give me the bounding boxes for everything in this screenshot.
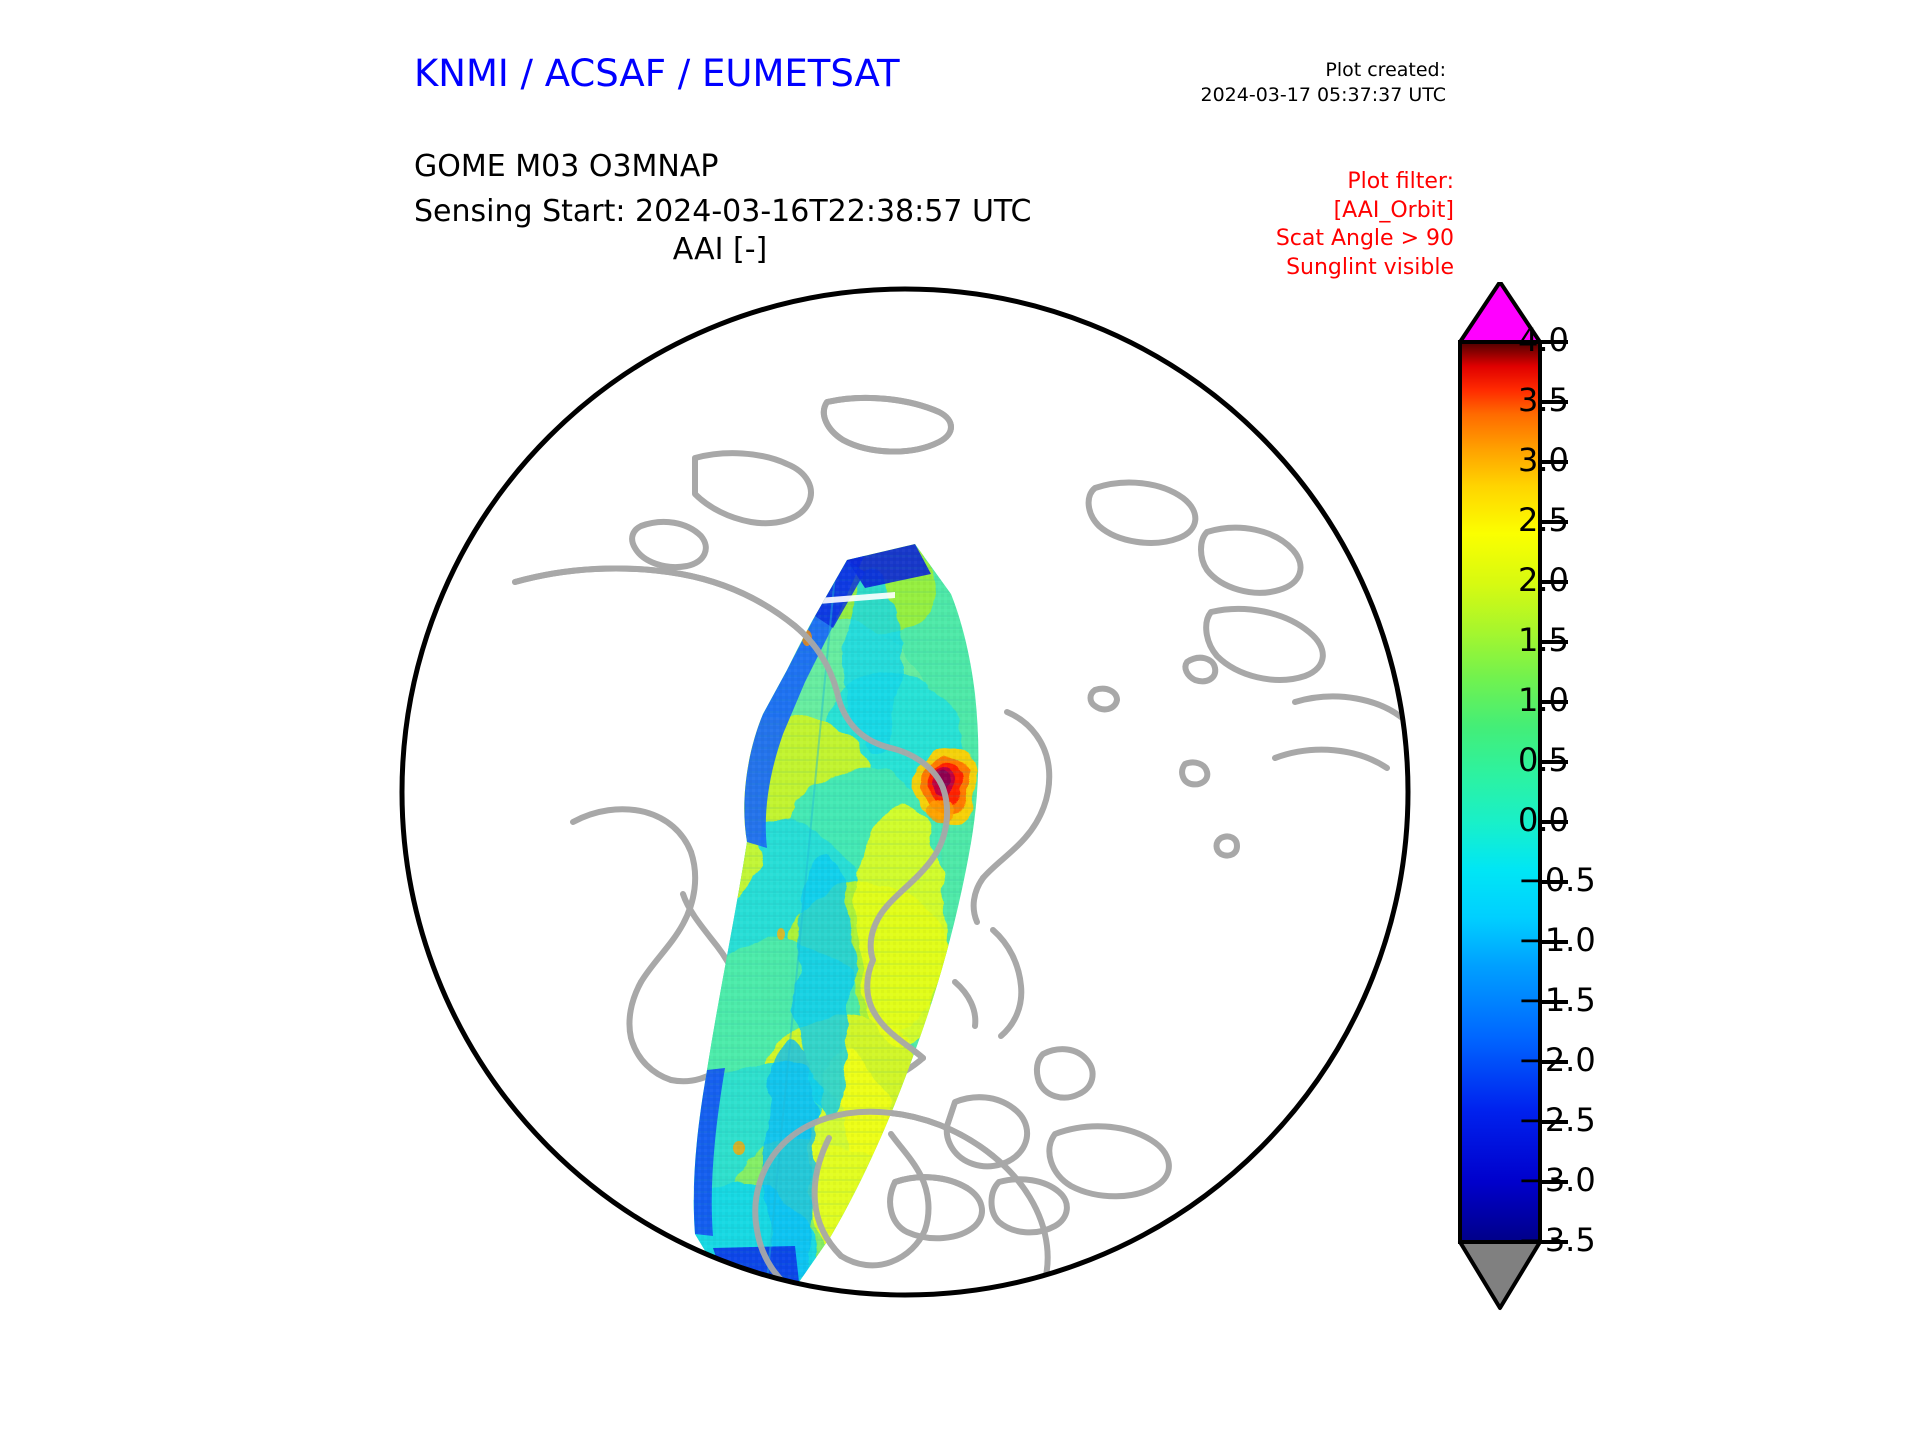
colorbar-tick-label-2.5: 2.5	[1518, 504, 1569, 536]
plot-page: KNMI / ACSAF / EUMETSAT Plot created: 20…	[0, 0, 1920, 1440]
colorbar-tick-label-1.0: 1.0	[1518, 684, 1569, 716]
page-title: AAI [-]	[0, 232, 1440, 267]
plot-filter-block: Plot filter: [AAI_Orbit] Scat Angle > 90…	[1276, 168, 1454, 282]
colorbar-tick-label-0.0: 0.0	[1518, 804, 1569, 836]
colorbar-svg	[1440, 282, 1740, 1312]
product-info-block: GOME M03 O3MNAP Sensing Start: 2024-03-1…	[414, 144, 1031, 234]
colorbar-tick-label-m0.5: −0.5	[1518, 864, 1596, 896]
colorbar-tick-label-m3.0: −3.0	[1518, 1164, 1596, 1196]
globe-svg	[395, 282, 1415, 1302]
colorbar-tick-label-m1.0: −1.0	[1518, 924, 1596, 956]
colorbar-tick-label-4.0: 4.0	[1518, 324, 1569, 356]
map-globe	[395, 282, 1415, 1302]
plot-filter-name: [AAI_Orbit]	[1276, 197, 1454, 226]
colorbar-tick-label-3.5: 3.5	[1518, 384, 1569, 416]
plot-created-label: Plot created:	[1201, 58, 1447, 83]
plot-created-timestamp: 2024-03-17 05:37:37 UTC	[1201, 83, 1447, 108]
sensing-start: Sensing Start: 2024-03-16T22:38:57 UTC	[414, 189, 1031, 234]
product-name: GOME M03 O3MNAP	[414, 144, 1031, 189]
colorbar-tick-label-1.5: 1.5	[1518, 624, 1569, 656]
plot-filter-label: Plot filter:	[1276, 168, 1454, 197]
plot-filter-sunglint: Sunglint visible	[1276, 254, 1454, 283]
colorbar: 4.0 3.5 3.0 2.5 2.0 1.5 1.0 0.5 0.0 −0.5…	[1440, 282, 1740, 1312]
colorbar-tick-label-3.0: 3.0	[1518, 444, 1569, 476]
colorbar-tick-label-m1.5: −1.5	[1518, 984, 1596, 1016]
colorbar-tick-label-m2.0: −2.0	[1518, 1044, 1596, 1076]
colorbar-tick-label-0.5: 0.5	[1518, 744, 1569, 776]
plot-created-block: Plot created: 2024-03-17 05:37:37 UTC	[1201, 58, 1447, 108]
colorbar-tick-label-m3.5: −3.5	[1518, 1224, 1596, 1256]
colorbar-tick-label-m2.5: −2.5	[1518, 1104, 1596, 1136]
plot-filter-scat-angle: Scat Angle > 90	[1276, 225, 1454, 254]
colorbar-tick-label-2.0: 2.0	[1518, 564, 1569, 596]
agency-title: KNMI / ACSAF / EUMETSAT	[414, 52, 900, 95]
